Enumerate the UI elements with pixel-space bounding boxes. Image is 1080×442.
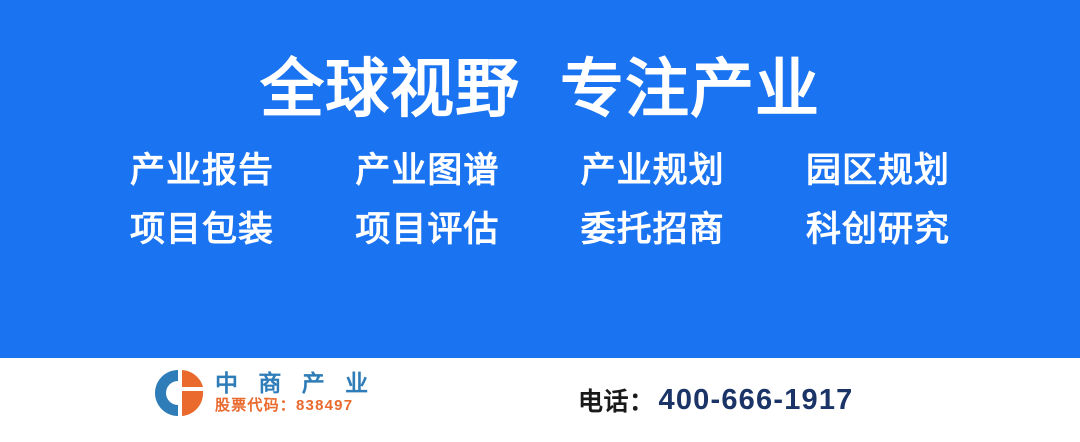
service-item-park-planning[interactable]: 园区规划: [806, 150, 950, 191]
brand-name: 中 商 产 业: [215, 371, 375, 396]
service-list: 产业报告 产业图谱 产业规划 园区规划 项目包装 项目评估 委托招商 科创研究: [130, 150, 950, 251]
service-item-industry-atlas[interactable]: 产业图谱: [355, 150, 499, 191]
service-item-project-packaging[interactable]: 项目包装: [130, 209, 274, 250]
hero-section: 全球视野专注产业 产业报告 产业图谱 产业规划 园区规划 项目包装 项目评估 委…: [0, 0, 1080, 358]
phone-label: 电话：: [578, 382, 655, 418]
company-logo-icon: [155, 368, 205, 418]
service-row: 产业报告 产业图谱 产业规划 园区规划: [130, 150, 950, 191]
service-item-project-assessment[interactable]: 项目评估: [355, 209, 499, 250]
service-row: 项目包装 项目评估 委托招商 科创研究: [130, 209, 950, 250]
service-item-entrusted-investment[interactable]: 委托招商: [581, 209, 725, 250]
promo-banner: 全球视野专注产业 产业报告 产业图谱 产业规划 园区规划 项目包装 项目评估 委…: [0, 0, 1080, 442]
service-item-scitech-research[interactable]: 科创研究: [806, 209, 950, 250]
service-item-industry-report[interactable]: 产业报告: [130, 150, 274, 191]
stock-code: 股票代码：838497: [215, 398, 375, 415]
headline-phrase-right: 专注产业: [560, 53, 820, 125]
brand-block: 中 商 产 业 股票代码：838497: [155, 368, 375, 418]
brand-text: 中 商 产 业 股票代码：838497: [215, 371, 375, 415]
contact-block: 电话： 400-666-1917: [578, 358, 854, 442]
page-title: 全球视野专注产业: [260, 56, 820, 124]
footer-bar: 中 商 产 业 股票代码：838497 电话： 400-666-1917: [0, 358, 1080, 442]
phone-number[interactable]: 400-666-1917: [659, 384, 854, 417]
service-item-industry-planning[interactable]: 产业规划: [581, 150, 725, 191]
headline-phrase-left: 全球视野: [260, 53, 520, 125]
